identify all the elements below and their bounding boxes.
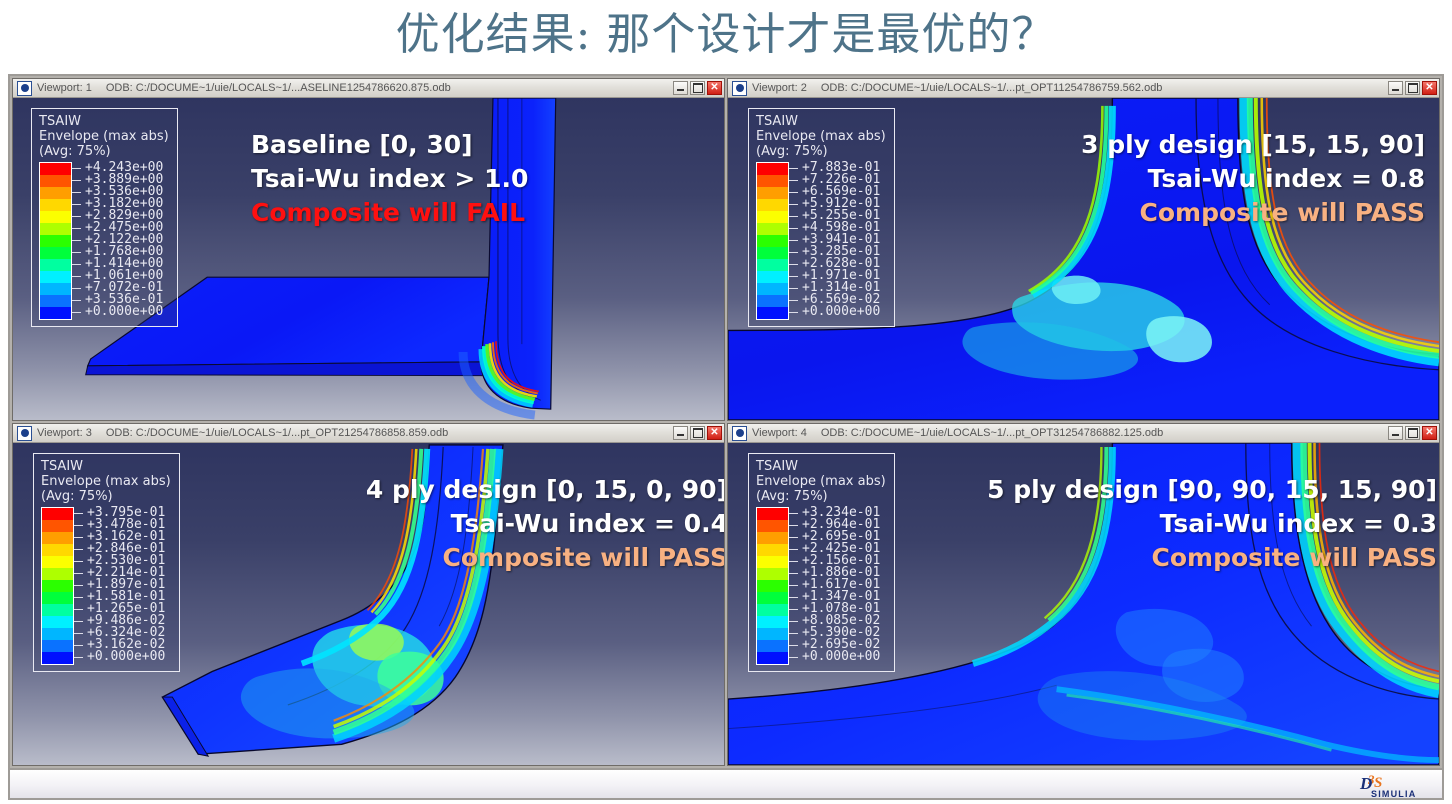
slide-root: 优化结果: 那个设计才是最优的？ Viewport: 1 ODB: C:/DOC… <box>0 0 1452 804</box>
viewport-3-odb-path: ODB: C:/DOCUME~1/uie/LOCALS~1/...pt_OPT2… <box>106 427 448 439</box>
close-icon[interactable]: ✕ <box>707 81 722 95</box>
viewport-grid: Viewport: 1 ODB: C:/DOCUME~1/uie/LOCALS~… <box>10 76 1442 768</box>
legend-tick-labels: +4.243e+00 +3.889e+00 +3.536e+00 +3.182e… <box>72 162 163 320</box>
close-icon[interactable]: ✕ <box>1422 426 1437 440</box>
annotation-index: Tsai-Wu index = 0.8 <box>1081 162 1425 196</box>
legend-tick-labels: +7.883e-01 +7.226e-01 +6.569e-01 +5.912e… <box>789 162 880 320</box>
maximize-icon[interactable] <box>1405 426 1420 440</box>
legend-variable: TSAIW <box>756 459 886 474</box>
legend-avg: (Avg: 75%) <box>756 144 886 159</box>
viewport-1-label: Viewport: 1 <box>37 82 92 94</box>
legend-tick-labels: +3.234e-01 +2.964e-01 +2.695e-01 +2.425e… <box>789 507 880 665</box>
legend-color-swatches <box>41 507 74 665</box>
viewport-4-legend: TSAIW Envelope (max abs) (Avg: 75%) <box>748 453 895 672</box>
viewport-4-window-buttons: ✕ <box>1388 426 1437 440</box>
simulia-logo-mark: 3 S D SIMULIA <box>1338 772 1434 798</box>
viewport-1-canvas[interactable]: TSAIW Envelope (max abs) (Avg: 75%) <box>13 98 724 420</box>
viewport-2-label: Viewport: 2 <box>752 82 807 94</box>
close-icon[interactable]: ✕ <box>707 426 722 440</box>
legend-variable: TSAIW <box>39 114 169 129</box>
viewport-1[interactable]: Viewport: 1 ODB: C:/DOCUME~1/uie/LOCALS~… <box>12 78 725 421</box>
annotation-verdict: Composite will FAIL <box>251 196 528 230</box>
viewport-2[interactable]: Viewport: 2 ODB: C:/DOCUME~1/uie/LOCALS~… <box>727 78 1440 421</box>
annotation-verdict: Composite will PASS <box>366 541 724 575</box>
viewport-1-titlebar[interactable]: Viewport: 1 ODB: C:/DOCUME~1/uie/LOCALS~… <box>13 79 724 98</box>
viewport-icon <box>17 81 32 96</box>
legend-avg: (Avg: 75%) <box>756 489 886 504</box>
legend-header: TSAIW Envelope (max abs) (Avg: 75%) <box>756 459 886 504</box>
legend-header: TSAIW Envelope (max abs) (Avg: 75%) <box>39 114 169 159</box>
viewport-2-titlebar[interactable]: Viewport: 2 ODB: C:/DOCUME~1/uie/LOCALS~… <box>728 79 1439 98</box>
viewport-1-annotation: Baseline [0, 30] Tsai-Wu index > 1.0 Com… <box>251 128 528 230</box>
maximize-icon[interactable] <box>690 81 705 95</box>
annotation-design: 3 ply design [15, 15, 90] <box>1081 128 1425 162</box>
legend-tick: +0.000e+00 <box>802 651 880 663</box>
viewport-2-legend: TSAIW Envelope (max abs) (Avg: 75%) <box>748 108 895 327</box>
legend-tick: +0.000e+00 <box>85 306 163 318</box>
page-title: 优化结果: 那个设计才是最优的？ <box>0 2 1452 70</box>
viewport-4[interactable]: Viewport: 4 ODB: C:/DOCUME~1/uie/LOCALS~… <box>727 423 1440 766</box>
legend-variable: TSAIW <box>756 114 886 129</box>
legend-envelope: Envelope (max abs) <box>41 474 171 489</box>
annotation-design: Baseline [0, 30] <box>251 128 528 162</box>
minimize-icon[interactable] <box>1388 426 1403 440</box>
viewport-icon <box>17 426 32 441</box>
legend-body: +3.234e-01 +2.964e-01 +2.695e-01 +2.425e… <box>756 507 886 665</box>
viewport-4-odb-path: ODB: C:/DOCUME~1/uie/LOCALS~1/...pt_OPT3… <box>821 427 1163 439</box>
annotation-design: 4 ply design [0, 15, 0, 90] <box>366 473 724 507</box>
viewport-4-label: Viewport: 4 <box>752 427 807 439</box>
legend-tick: +0.000e+00 <box>802 306 880 318</box>
viewport-4-canvas[interactable]: TSAIW Envelope (max abs) (Avg: 75%) <box>728 443 1439 765</box>
viewport-3-annotation: 4 ply design [0, 15, 0, 90] Tsai-Wu inde… <box>366 473 724 575</box>
annotation-index: Tsai-Wu index = 0.3 <box>987 507 1437 541</box>
maximize-icon[interactable] <box>1405 81 1420 95</box>
viewport-2-odb-path: ODB: C:/DOCUME~1/uie/LOCALS~1/...pt_OPT1… <box>821 82 1163 94</box>
legend-avg: (Avg: 75%) <box>41 489 171 504</box>
legend-tick-labels: +3.795e-01 +3.478e-01 +3.162e-01 +2.846e… <box>74 507 165 665</box>
viewport-3-window-buttons: ✕ <box>673 426 722 440</box>
simulia-logo: 3 S D SIMULIA <box>1338 772 1434 798</box>
minimize-icon[interactable] <box>673 426 688 440</box>
viewport-1-window-buttons: ✕ <box>673 81 722 95</box>
cae-window: Viewport: 1 ODB: C:/DOCUME~1/uie/LOCALS~… <box>8 74 1444 770</box>
minimize-icon[interactable] <box>673 81 688 95</box>
legend-color-swatches <box>756 507 789 665</box>
viewport-1-legend: TSAIW Envelope (max abs) (Avg: 75%) <box>31 108 178 327</box>
legend-tick: +0.000e+00 <box>87 651 165 663</box>
status-bar: 3 S D SIMULIA <box>8 770 1444 800</box>
legend-body: +3.795e-01 +3.478e-01 +3.162e-01 +2.846e… <box>41 507 171 665</box>
legend-envelope: Envelope (max abs) <box>39 129 169 144</box>
viewport-3-titlebar[interactable]: Viewport: 3 ODB: C:/DOCUME~1/uie/LOCALS~… <box>13 424 724 443</box>
legend-variable: TSAIW <box>41 459 171 474</box>
legend-body: +7.883e-01 +7.226e-01 +6.569e-01 +5.912e… <box>756 162 886 320</box>
annotation-index: Tsai-Wu index > 1.0 <box>251 162 528 196</box>
minimize-icon[interactable] <box>1388 81 1403 95</box>
viewport-1-odb-path: ODB: C:/DOCUME~1/uie/LOCALS~1/...ASELINE… <box>106 82 451 94</box>
close-icon[interactable]: ✕ <box>1422 81 1437 95</box>
viewport-2-window-buttons: ✕ <box>1388 81 1437 95</box>
legend-color-swatches <box>756 162 789 320</box>
annotation-index: Tsai-Wu index = 0.4 <box>366 507 724 541</box>
viewport-4-titlebar[interactable]: Viewport: 4 ODB: C:/DOCUME~1/uie/LOCALS~… <box>728 424 1439 443</box>
svg-text:SIMULIA: SIMULIA <box>1371 789 1416 798</box>
viewport-3-canvas[interactable]: TSAIW Envelope (max abs) (Avg: 75%) <box>13 443 724 765</box>
maximize-icon[interactable] <box>690 426 705 440</box>
viewport-3-label: Viewport: 3 <box>37 427 92 439</box>
legend-envelope: Envelope (max abs) <box>756 129 886 144</box>
legend-header: TSAIW Envelope (max abs) (Avg: 75%) <box>756 114 886 159</box>
legend-body: +4.243e+00 +3.889e+00 +3.536e+00 +3.182e… <box>39 162 169 320</box>
viewport-icon <box>732 426 747 441</box>
viewport-3[interactable]: Viewport: 3 ODB: C:/DOCUME~1/uie/LOCALS~… <box>12 423 725 766</box>
viewport-2-annotation: 3 ply design [15, 15, 90] Tsai-Wu index … <box>1081 128 1425 230</box>
viewport-icon <box>732 81 747 96</box>
viewport-3-legend: TSAIW Envelope (max abs) (Avg: 75%) <box>33 453 180 672</box>
legend-envelope: Envelope (max abs) <box>756 474 886 489</box>
viewport-4-annotation: 5 ply design [90, 90, 15, 15, 90] Tsai-W… <box>987 473 1437 575</box>
viewport-2-canvas[interactable]: TSAIW Envelope (max abs) (Avg: 75%) <box>728 98 1439 420</box>
annotation-verdict: Composite will PASS <box>987 541 1437 575</box>
legend-color-swatches <box>39 162 72 320</box>
annotation-design: 5 ply design [90, 90, 15, 15, 90] <box>987 473 1437 507</box>
annotation-verdict: Composite will PASS <box>1081 196 1425 230</box>
legend-header: TSAIW Envelope (max abs) (Avg: 75%) <box>41 459 171 504</box>
legend-avg: (Avg: 75%) <box>39 144 169 159</box>
